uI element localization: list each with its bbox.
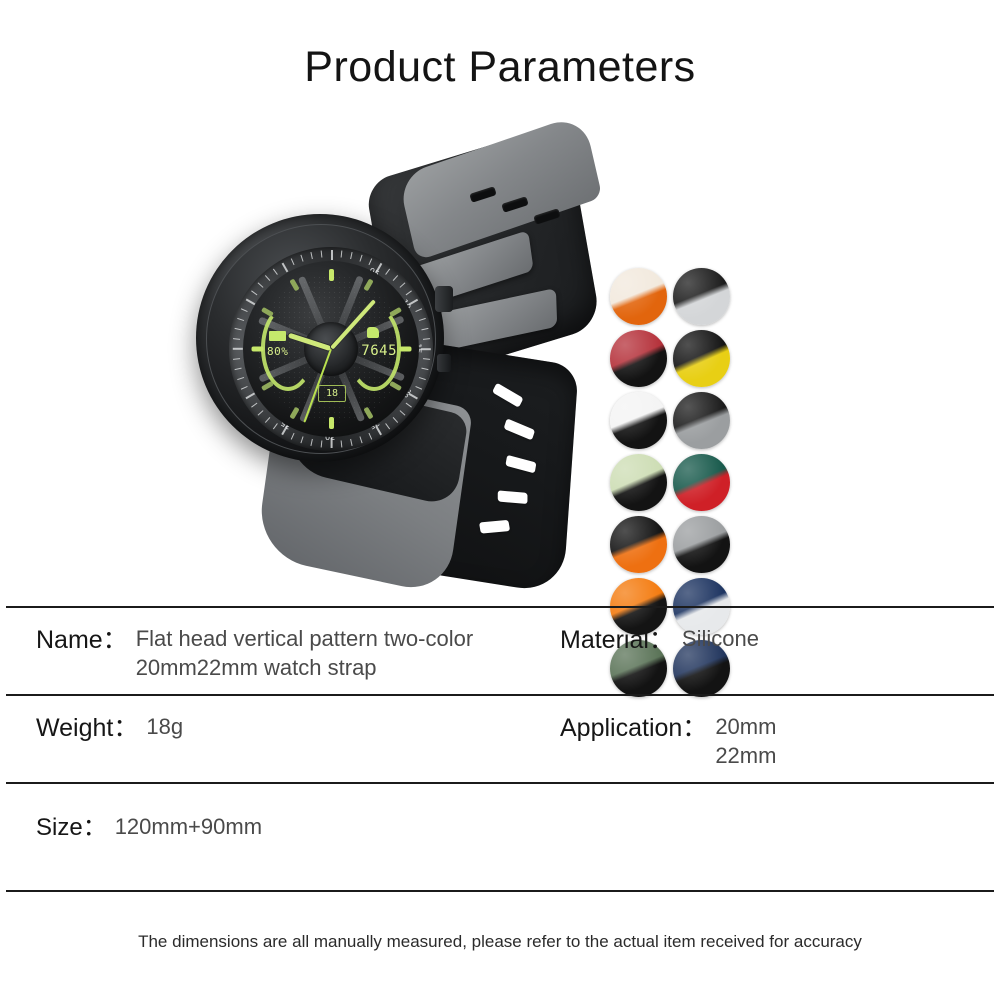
swatch-gloss bbox=[673, 454, 730, 511]
dial-marker bbox=[329, 417, 334, 429]
bezel-tick bbox=[359, 436, 362, 443]
application-value-line1: 20mm bbox=[715, 712, 776, 741]
bezel-tick bbox=[341, 440, 343, 447]
bezel-tick bbox=[273, 423, 278, 429]
swatch-gloss bbox=[673, 392, 730, 449]
bezel-tick bbox=[393, 417, 398, 423]
dial-marker bbox=[399, 347, 411, 352]
color-swatch-row bbox=[610, 392, 750, 449]
swatch-gloss bbox=[673, 268, 730, 325]
color-swatch-row bbox=[610, 330, 750, 387]
weight-label: Weight： bbox=[36, 712, 138, 745]
bezel-tick bbox=[368, 433, 372, 440]
bezel-tick bbox=[419, 377, 426, 380]
dial-steps-value: 7645 bbox=[361, 343, 397, 359]
spec-row-name-material: Name： Flat head vertical pattern two-col… bbox=[0, 608, 1000, 694]
watch-crown bbox=[435, 286, 453, 312]
watch-product-image: 05101520253035 80% 7645 18 bbox=[170, 138, 590, 578]
strap-vent bbox=[479, 520, 510, 534]
color-swatch-lightgreen-black[interactable] bbox=[610, 454, 667, 511]
strap-vent bbox=[498, 490, 528, 504]
size-value: 120mm+90mm bbox=[115, 812, 262, 841]
size-label: Size： bbox=[36, 812, 107, 843]
swatch-gloss bbox=[673, 330, 730, 387]
watch-pusher bbox=[437, 354, 451, 372]
bezel-tick bbox=[359, 255, 362, 262]
color-swatch-row bbox=[610, 454, 750, 511]
application-label: Application： bbox=[560, 712, 707, 745]
bezel-tick bbox=[251, 290, 257, 295]
bezel-tick bbox=[241, 308, 248, 312]
name-label: Name： bbox=[36, 624, 128, 657]
bezel-tick bbox=[400, 410, 406, 415]
spec-cell-size: Size： 120mm+90mm bbox=[0, 812, 540, 843]
bezel-tick bbox=[331, 250, 333, 260]
watch-dial: 80% 7645 18 bbox=[243, 261, 419, 437]
bezel-tick bbox=[368, 258, 372, 265]
bezel-tick bbox=[421, 328, 428, 330]
page-title: Product Parameters bbox=[0, 44, 1000, 91]
bezel-tick bbox=[415, 386, 422, 390]
color-swatch-gray-black[interactable] bbox=[673, 516, 730, 573]
dial-marker bbox=[251, 347, 263, 352]
bezel-tick bbox=[341, 250, 343, 257]
application-value-line2: 22mm bbox=[715, 741, 776, 770]
color-swatch-black-yellow[interactable] bbox=[673, 330, 730, 387]
bezel-tick bbox=[237, 318, 244, 321]
spec-cell-application: Application： 20mm 22mm bbox=[540, 712, 1000, 770]
color-swatch-orange-white[interactable] bbox=[610, 268, 667, 325]
bezel-tick bbox=[385, 269, 390, 275]
bezel-tick bbox=[233, 358, 240, 360]
strap-vent bbox=[505, 455, 536, 474]
bezel-tick bbox=[400, 282, 406, 287]
name-value-line1: Flat head vertical pattern two-color bbox=[136, 624, 474, 653]
bezel-tick bbox=[406, 403, 412, 408]
dial-marker bbox=[329, 269, 334, 281]
spec-row-size: Size： 120mm+90mm bbox=[0, 784, 1000, 890]
bezel-tick bbox=[310, 439, 312, 446]
dial-date-value: 18 bbox=[318, 385, 346, 402]
bezel-tick bbox=[235, 328, 242, 330]
dial-battery-value: 80% bbox=[267, 345, 288, 358]
bezel-tick bbox=[350, 252, 352, 259]
swatch-gloss bbox=[610, 330, 667, 387]
bezel-tick bbox=[406, 290, 412, 295]
color-swatch-row bbox=[610, 516, 750, 573]
bezel-tick bbox=[300, 255, 303, 262]
bezel-tick bbox=[241, 386, 248, 390]
product-hero: 05101520253035 80% 7645 18 bbox=[0, 118, 1000, 598]
swatch-gloss bbox=[610, 454, 667, 511]
bezel-tick bbox=[310, 252, 312, 259]
bezel-tick bbox=[233, 348, 243, 350]
bezel-tick bbox=[258, 410, 264, 415]
strap-vent bbox=[492, 383, 523, 408]
bezel-tick bbox=[237, 377, 244, 380]
bezel-tick bbox=[291, 258, 295, 265]
bezel-tick bbox=[265, 275, 270, 281]
bezel-tick bbox=[415, 308, 422, 312]
bezel-tick bbox=[423, 338, 430, 340]
bezel-tick bbox=[385, 423, 390, 429]
bezel-tick bbox=[246, 393, 255, 399]
name-value: Flat head vertical pattern two-color 20m… bbox=[136, 624, 474, 682]
color-swatch-black-silver[interactable] bbox=[673, 268, 730, 325]
bezel-tick bbox=[421, 368, 428, 370]
steps-icon bbox=[367, 327, 379, 338]
name-value-line2: 20mm22mm watch strap bbox=[136, 653, 474, 682]
bezel-tick bbox=[265, 417, 270, 423]
watch-bezel: 05101520253035 80% 7645 18 bbox=[206, 224, 436, 454]
color-swatch-black-orange[interactable] bbox=[610, 516, 667, 573]
bezel-tick bbox=[419, 318, 426, 321]
material-value: Silicone bbox=[682, 624, 759, 653]
color-swatch-white-black[interactable] bbox=[610, 392, 667, 449]
bezel-tick bbox=[233, 338, 240, 340]
bezel-tick bbox=[258, 282, 264, 287]
bezel-tick bbox=[321, 440, 323, 447]
application-value: 20mm 22mm bbox=[715, 712, 776, 770]
spec-table: Name： Flat head vertical pattern two-col… bbox=[0, 606, 1000, 892]
swatch-gloss bbox=[610, 268, 667, 325]
bezel-tick bbox=[282, 263, 288, 272]
measurement-footnote: The dimensions are all manually measured… bbox=[0, 932, 1000, 952]
strap-vent bbox=[504, 418, 536, 440]
swatch-gloss bbox=[610, 516, 667, 573]
bezel-tick bbox=[291, 433, 295, 440]
spec-row-weight-application: Weight： 18g Application： 20mm 22mm bbox=[0, 696, 1000, 782]
bezel-tick bbox=[350, 439, 352, 446]
bezel-tick bbox=[393, 275, 398, 281]
swatch-gloss bbox=[673, 516, 730, 573]
material-label: Material： bbox=[560, 624, 674, 657]
weight-value: 18g bbox=[146, 712, 183, 741]
bezel-tick bbox=[251, 403, 257, 408]
color-swatch-black-gray[interactable] bbox=[673, 392, 730, 449]
bezel-tick bbox=[423, 358, 430, 360]
spec-cell-weight: Weight： 18g bbox=[0, 712, 540, 745]
bezel-tick bbox=[273, 269, 278, 275]
bezel-tick bbox=[235, 368, 242, 370]
table-divider-bottom bbox=[6, 890, 994, 892]
battery-icon bbox=[269, 331, 286, 341]
bezel-tick bbox=[321, 250, 323, 257]
color-swatch-red-black[interactable] bbox=[610, 330, 667, 387]
color-swatch-green-red[interactable] bbox=[673, 454, 730, 511]
spec-cell-material: Material： Silicone bbox=[540, 624, 1000, 657]
bezel-tick bbox=[300, 436, 303, 443]
color-swatch-row bbox=[610, 268, 750, 325]
watch-case: 05101520253035 80% 7645 18 bbox=[196, 214, 444, 462]
swatch-gloss bbox=[610, 392, 667, 449]
spec-cell-name: Name： Flat head vertical pattern two-col… bbox=[0, 624, 540, 682]
